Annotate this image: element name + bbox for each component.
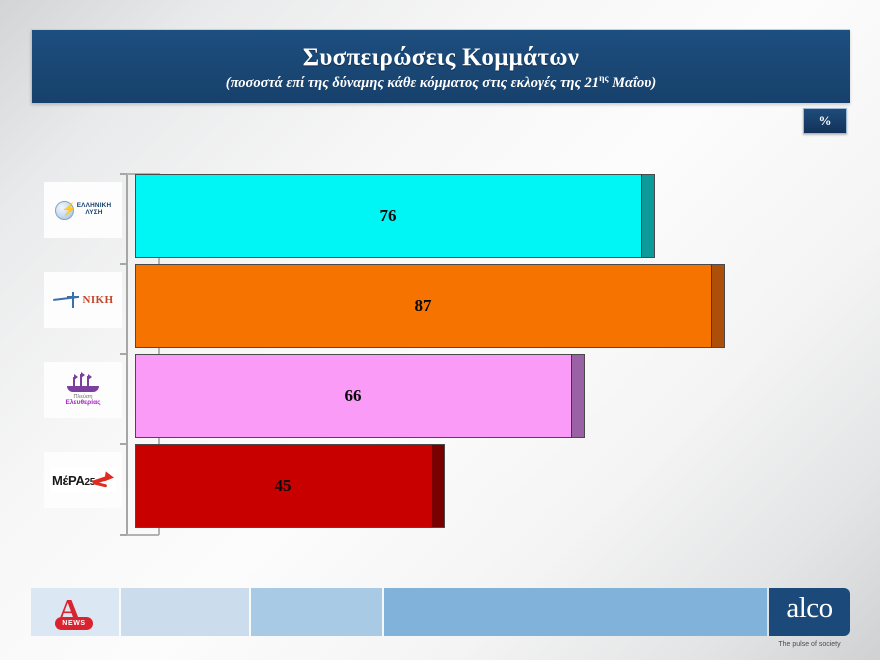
- page-subtitle: (ποσοστά επί της δύναμης κάθε κόμματος σ…: [226, 74, 656, 92]
- party-logo-line2: Ελευθερίας: [65, 400, 100, 407]
- alpha-news-label: NEWS: [55, 617, 93, 630]
- bar-value-label: 76: [380, 206, 397, 226]
- subtitle-post: Μαΐου): [608, 74, 656, 90]
- niki-cross-icon: [53, 292, 83, 308]
- alco-wordmark: alco: [769, 594, 850, 623]
- bar-elliniki-lysi[interactable]: 76: [135, 174, 655, 258]
- axis-tick: [120, 173, 127, 175]
- party-logo-line1: MέPA25: [52, 473, 95, 488]
- greek-solution-emblem-icon: [55, 201, 74, 220]
- party-logo-niki: ΝΙΚΗ: [44, 272, 122, 328]
- bar-end-cap: [641, 174, 655, 258]
- party-logo-line1: ΝΙΚΗ: [83, 294, 114, 306]
- footer-alco-cell: alco The pulse of society: [769, 588, 850, 636]
- party-logo-elliniki-lysi: ΕΛΛΗΝΙΚΗ ΛΥΣΗ: [44, 182, 122, 238]
- footer-bar: A NEWS alco The pulse of society: [0, 588, 880, 640]
- mera-word: MέPA: [52, 473, 85, 488]
- alpha-news-logo-icon: A NEWS: [31, 588, 119, 636]
- party-logo-mera25: MέPA25: [44, 452, 122, 508]
- category-axis-cap-bottom: [126, 534, 159, 536]
- footer-segment-1: [121, 588, 249, 636]
- bar-value-label: 87: [415, 296, 432, 316]
- page-title: Συσπειρώσεις Κομμάτων: [303, 44, 580, 71]
- party-logo-pleusi-eleftherias: Πλεύση Ελευθερίας: [44, 362, 122, 418]
- axis-tick: [120, 263, 127, 265]
- axis-tick: [120, 443, 127, 445]
- bar-end-cap: [711, 264, 725, 348]
- title-banner: Συσπειρώσεις Κομμάτων (ποσοστά επί της δ…: [31, 29, 850, 103]
- bar-pleusi-eleftherias[interactable]: 66: [135, 354, 585, 438]
- axis-tick: [120, 353, 127, 355]
- footer-segment-3: [384, 588, 767, 636]
- bar-mera25[interactable]: 45: [135, 444, 445, 528]
- alco-tagline: The pulse of society: [769, 641, 850, 648]
- slide-canvas: Συσπειρώσεις Κομμάτων (ποσοστά επί της δ…: [0, 0, 880, 660]
- bar-end-cap: [571, 354, 585, 438]
- chart-plot-area: ΕΛΛΗΝΙΚΗ ΛΥΣΗ 76 ΝΙΚΗ: [0, 160, 880, 550]
- alco-logo-icon: alco The pulse of society: [769, 588, 850, 636]
- mera25-arrow-icon: [92, 469, 114, 491]
- sailing-ship-icon: [66, 373, 100, 393]
- party-logo-line2: ΛΥΣΗ: [77, 210, 112, 217]
- footer-logo-cell: A NEWS: [31, 588, 119, 636]
- axis-tick: [120, 534, 127, 536]
- subtitle-pre: (ποσοστά επί της δύναμης κάθε κόμματος σ…: [226, 74, 599, 90]
- bar-value-label: 66: [345, 386, 362, 406]
- bar-niki[interactable]: 87: [135, 264, 725, 348]
- bar-value-label: 45: [275, 476, 292, 496]
- footer-segment-2: [251, 588, 382, 636]
- bar-end-cap: [431, 444, 445, 528]
- percent-unit-badge: %: [803, 108, 847, 134]
